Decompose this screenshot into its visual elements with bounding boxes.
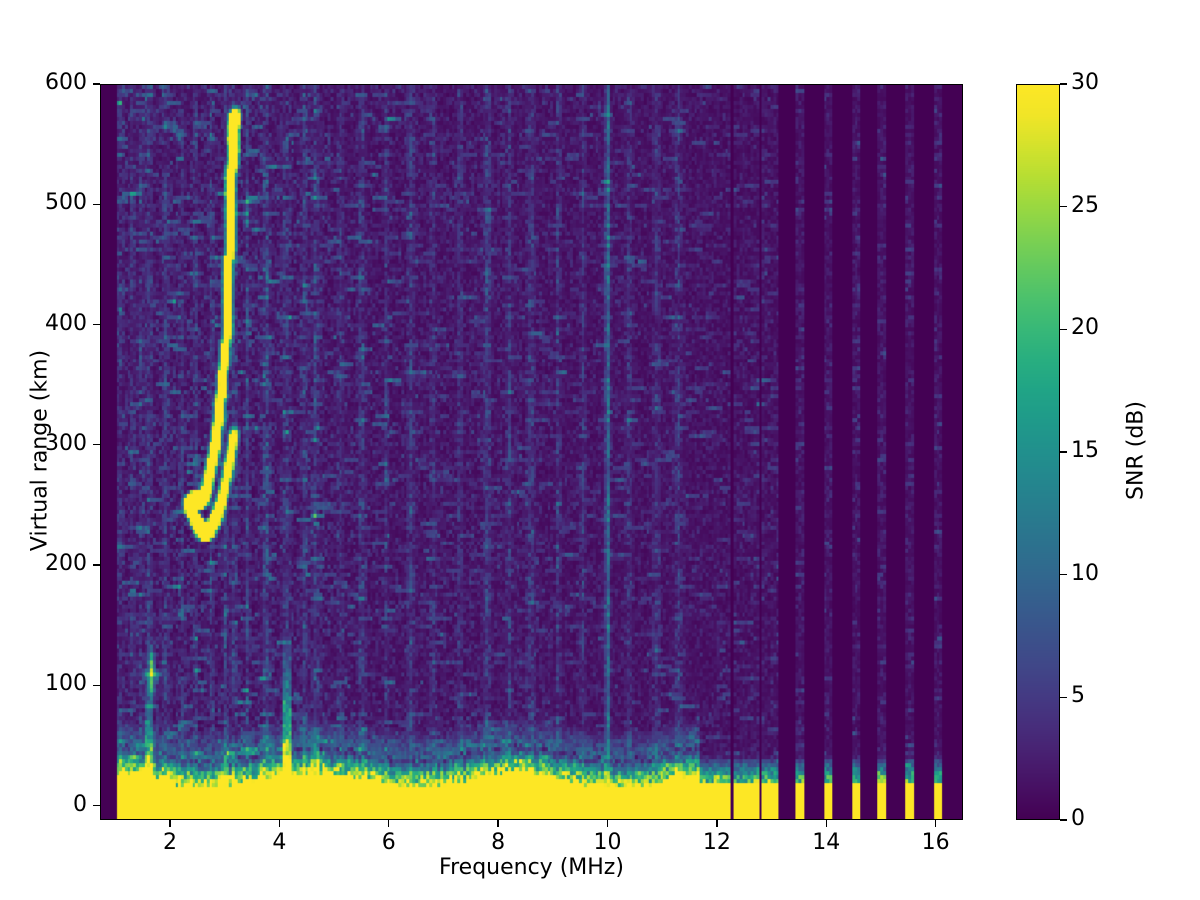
y-tick-mark bbox=[93, 805, 100, 806]
y-tick-label: 100 bbox=[0, 671, 87, 696]
y-tick-label: 300 bbox=[0, 431, 87, 456]
colorbar-tick-label: 30 bbox=[1071, 70, 1099, 95]
x-tick-label: 4 bbox=[239, 830, 319, 855]
ionogram-plot-area[interactable] bbox=[100, 84, 963, 820]
x-tick-label: 12 bbox=[677, 830, 757, 855]
y-tick-label: 400 bbox=[0, 311, 87, 336]
y-tick-mark bbox=[93, 685, 100, 686]
colorbar-tick-label: 20 bbox=[1071, 315, 1099, 340]
y-tick-label: 600 bbox=[0, 70, 87, 95]
x-tick-label: 10 bbox=[568, 830, 648, 855]
x-axis-label: Frequency (MHz) bbox=[0, 855, 1063, 880]
x-tick-mark bbox=[279, 820, 280, 827]
colorbar-tick-mark bbox=[1060, 329, 1067, 330]
y-tick-mark bbox=[93, 83, 100, 84]
colorbar-tick-mark bbox=[1060, 206, 1067, 207]
colorbar-tick-label: 15 bbox=[1071, 438, 1099, 463]
y-tick-label: 0 bbox=[0, 792, 87, 817]
x-tick-mark bbox=[935, 820, 936, 827]
x-tick-mark bbox=[826, 820, 827, 827]
ionogram-heatmap bbox=[101, 85, 962, 819]
colorbar-label: SNR (dB) bbox=[1124, 83, 1149, 819]
x-tick-label: 14 bbox=[786, 830, 866, 855]
x-tick-label: 16 bbox=[896, 830, 976, 855]
colorbar-tick-label: 5 bbox=[1071, 683, 1085, 708]
x-tick-mark bbox=[607, 820, 608, 827]
colorbar-tick-mark bbox=[1060, 83, 1067, 84]
x-tick-mark bbox=[169, 820, 170, 827]
colorbar-tick-mark bbox=[1060, 819, 1067, 820]
colorbar[interactable] bbox=[1016, 84, 1060, 820]
y-tick-mark bbox=[93, 204, 100, 205]
colorbar-tick-mark bbox=[1060, 697, 1067, 698]
colorbar-tick-label: 10 bbox=[1071, 561, 1099, 586]
colorbar-tick-mark bbox=[1060, 451, 1067, 452]
x-tick-mark bbox=[388, 820, 389, 827]
ionogram-figure: IRF Uppsala SDR Ionosonde UP158 2026-04-… bbox=[0, 0, 1200, 900]
colorbar-tick-label: 0 bbox=[1071, 806, 1085, 831]
x-tick-mark bbox=[497, 820, 498, 827]
y-tick-label: 200 bbox=[0, 551, 87, 576]
x-tick-label: 2 bbox=[130, 830, 210, 855]
y-tick-mark bbox=[93, 324, 100, 325]
colorbar-tick-mark bbox=[1060, 574, 1067, 575]
x-tick-label: 6 bbox=[349, 830, 429, 855]
colorbar-gradient bbox=[1017, 85, 1059, 819]
x-tick-label: 8 bbox=[458, 830, 538, 855]
y-tick-label: 500 bbox=[0, 190, 87, 215]
y-tick-mark bbox=[93, 444, 100, 445]
colorbar-tick-label: 25 bbox=[1071, 193, 1099, 218]
x-tick-mark bbox=[716, 820, 717, 827]
y-tick-mark bbox=[93, 564, 100, 565]
